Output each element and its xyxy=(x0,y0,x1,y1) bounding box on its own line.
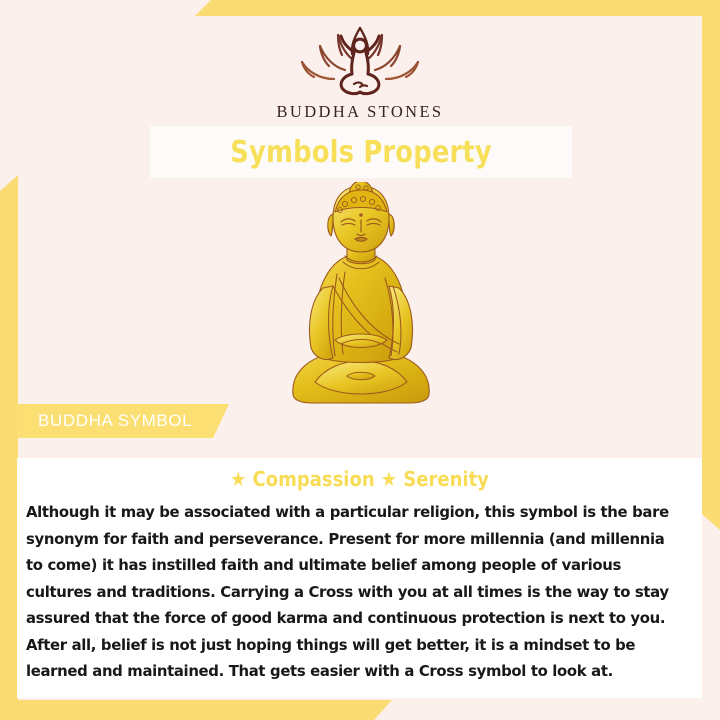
ribbon-label: BUDDHA SYMBOL xyxy=(38,411,192,431)
decorative-band-bottom xyxy=(0,700,392,720)
content-card: ★ Compassion ★ Serenity Although it may … xyxy=(17,458,702,698)
star-icon-right: ★ xyxy=(381,467,397,491)
card-body-text: Although it may be associated with a par… xyxy=(26,499,670,685)
brand-name: BUDDHA STONES xyxy=(0,102,720,122)
buddha-symbol-ribbon: BUDDHA SYMBOL xyxy=(17,404,229,438)
brand-block: BUDDHA STONES xyxy=(0,22,720,122)
decorative-band-top xyxy=(195,0,720,16)
page-title-plate: Symbols Property xyxy=(150,126,572,178)
page-title: Symbols Property xyxy=(230,135,492,170)
decorative-band-left xyxy=(0,175,18,700)
keyword-compassion: Compassion xyxy=(252,467,374,491)
lotus-meditation-figure-icon xyxy=(294,22,426,96)
seated-buddha-statue-icon xyxy=(281,182,441,414)
keyword-serenity: Serenity xyxy=(403,467,489,491)
star-icon-left: ★ xyxy=(230,467,246,491)
card-subhead: ★ Compassion ★ Serenity xyxy=(51,467,668,491)
infographic-page: BUDDHA STONES Symbols Property xyxy=(0,0,720,720)
